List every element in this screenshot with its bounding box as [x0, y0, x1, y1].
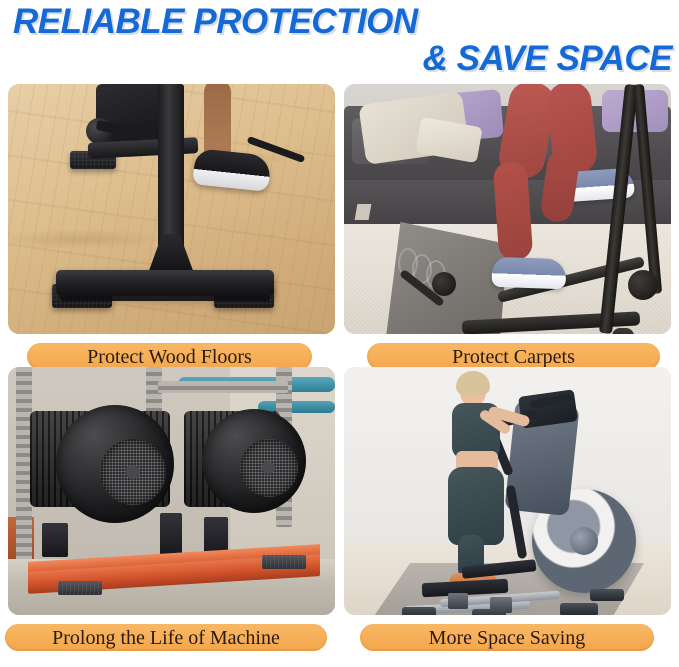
flywheel-hub	[570, 527, 598, 555]
person-shoe-lower	[491, 257, 566, 290]
sofa-leg	[355, 204, 372, 220]
title-line-2: & SAVE SPACE	[423, 40, 672, 78]
person-leggings	[448, 467, 504, 545]
motor-mount-foot	[160, 513, 182, 557]
rail-mount	[448, 593, 468, 609]
label-prolong-life-of-machine: Prolong the Life of Machine	[5, 624, 327, 651]
vibration-pad-right	[262, 555, 306, 569]
person-hair	[456, 371, 490, 395]
motor-fan-grille-right	[240, 439, 298, 497]
label-text: Protect Carpets	[452, 347, 575, 367]
base-foot-rear	[590, 589, 624, 601]
label-text: Prolong the Life of Machine	[52, 628, 280, 648]
motor-mount-foot	[42, 523, 68, 557]
elliptical-crank-hub	[432, 272, 456, 296]
photo-more-space-saving	[344, 367, 671, 615]
bike-center-post	[158, 84, 184, 259]
infographic-page: RELIABLE PROTECTION & SAVE SPACE	[0, 0, 679, 667]
photo-protect-carpets	[344, 84, 671, 334]
vibration-pad-left	[58, 581, 102, 595]
label-more-space-saving: More Space Saving	[360, 624, 654, 651]
page-title: RELIABLE PROTECTION & SAVE SPACE	[0, 0, 679, 82]
label-protect-carpets: Protect Carpets	[367, 343, 660, 370]
fan-hub-icon	[126, 465, 140, 479]
motor-fan-grille-left	[100, 439, 166, 505]
base-foot-center	[472, 609, 506, 615]
fan-hub-icon	[262, 461, 275, 474]
feature-cell-prolong-life-of-machine: Prolong the Life of Machine	[8, 367, 335, 651]
feature-cell-protect-carpets: Protect Carpets	[344, 84, 671, 370]
photo-protect-wood-floors	[8, 84, 335, 334]
base-foot-right	[560, 603, 598, 615]
base-foot-left	[402, 607, 436, 615]
feature-cell-protect-wood-floors: Protect Wood Floors	[8, 84, 335, 370]
label-text: Protect Wood Floors	[87, 347, 252, 367]
steel-rack-beam	[158, 381, 288, 393]
elliptical-foot-right	[612, 328, 634, 334]
elliptical-pivot-joint	[628, 270, 658, 300]
title-line-1: RELIABLE PROTECTION	[13, 3, 418, 41]
photo-prolong-life-of-machine	[8, 367, 335, 615]
label-text: More Space Saving	[429, 628, 586, 648]
bike-stabilizer-shadow	[60, 290, 270, 301]
feature-grid: Protect Wood Floors	[0, 84, 679, 667]
person-shin-rear	[493, 161, 534, 261]
label-protect-wood-floors: Protect Wood Floors	[27, 343, 312, 370]
feature-cell-more-space-saving: More Space Saving	[344, 367, 671, 651]
